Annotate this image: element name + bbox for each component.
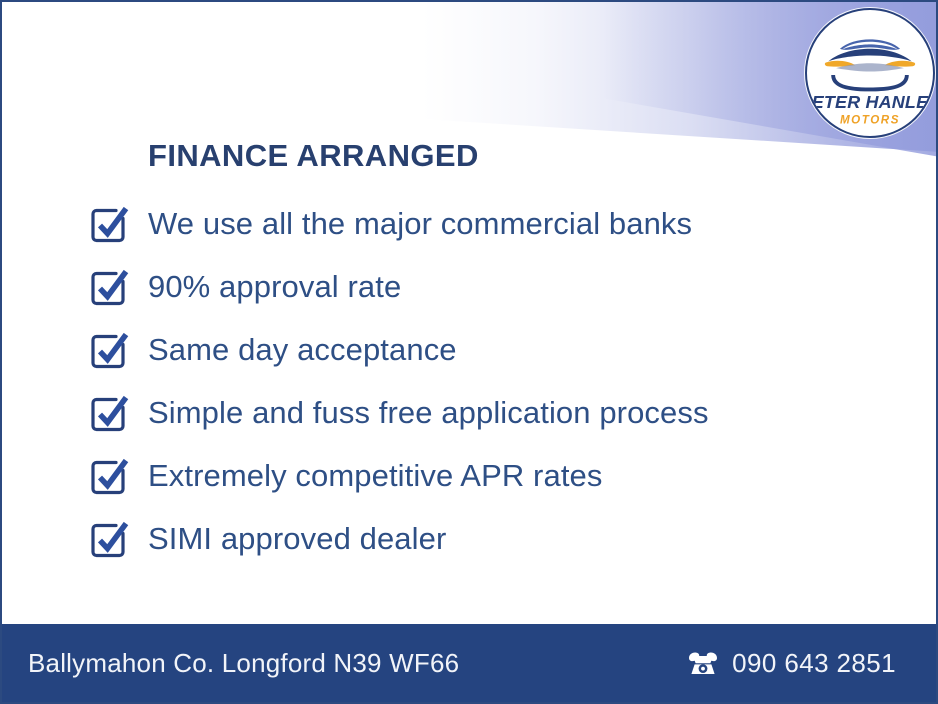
list-item: Extremely competitive APR rates <box>86 444 886 507</box>
phone-group: 090 643 2851 <box>686 648 914 679</box>
list-item-label: Extremely competitive APR rates <box>148 460 602 491</box>
telephone-icon <box>686 648 720 678</box>
list-item: SIMI approved dealer <box>86 507 886 570</box>
list-item-label: We use all the major commercial banks <box>148 208 692 239</box>
list-item: Same day acceptance <box>86 318 886 381</box>
brand-logo: PETER HANLEY MOTORS <box>805 8 935 138</box>
promo-slide: PETER HANLEY MOTORS FINANCE ARRANGED We … <box>0 0 938 704</box>
footer-bar: Ballymahon Co. Longford N39 WF66 090 643… <box>2 624 936 702</box>
list-item-label: Same day acceptance <box>148 334 457 365</box>
list-item-label: Simple and fuss free application process <box>148 397 709 428</box>
page-title: FINANCE ARRANGED <box>148 138 479 174</box>
checkbox-checked-icon <box>86 390 132 436</box>
logo-name-top: PETER HANLEY <box>807 92 933 112</box>
list-item-label: SIMI approved dealer <box>148 523 446 554</box>
list-item-label: 90% approval rate <box>148 271 401 302</box>
checkbox-checked-icon <box>86 264 132 310</box>
car-front-logo-icon: PETER HANLEY MOTORS <box>807 10 933 136</box>
checkbox-checked-icon <box>86 516 132 562</box>
benefits-list: We use all the major commercial banks 90… <box>86 192 886 570</box>
list-item: 90% approval rate <box>86 255 886 318</box>
checkbox-checked-icon <box>86 453 132 499</box>
list-item: We use all the major commercial banks <box>86 192 886 255</box>
dealer-phone: 090 643 2851 <box>732 648 896 679</box>
checkbox-checked-icon <box>86 201 132 247</box>
list-item: Simple and fuss free application process <box>86 381 886 444</box>
logo-name-bottom: MOTORS <box>840 113 900 126</box>
dealer-address: Ballymahon Co. Longford N39 WF66 <box>28 648 459 679</box>
checkbox-checked-icon <box>86 327 132 373</box>
